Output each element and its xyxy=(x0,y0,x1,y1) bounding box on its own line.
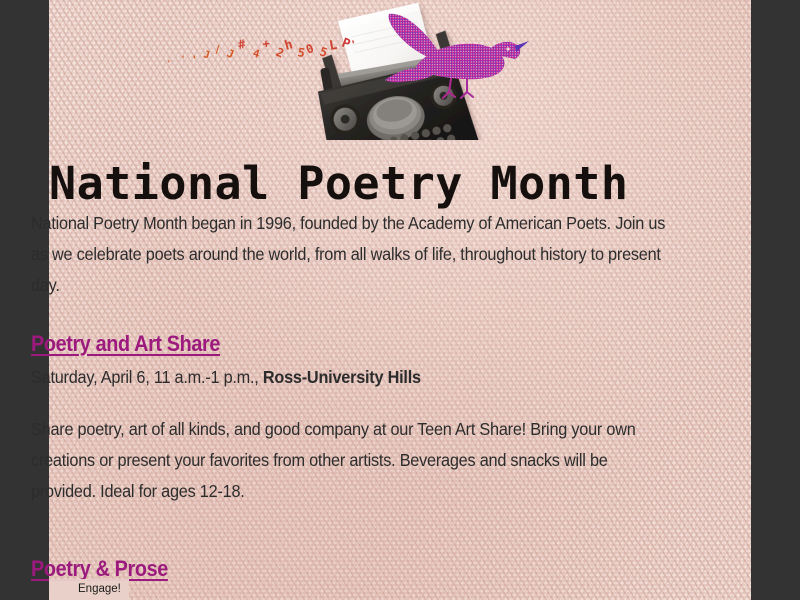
svg-text:,: , xyxy=(166,55,172,64)
svg-text:h: h xyxy=(283,37,295,54)
status-bar-link-preview: Engage! xyxy=(49,579,129,600)
svg-text:+: + xyxy=(262,36,271,51)
svg-text:J: J xyxy=(225,47,236,62)
svg-text:': ' xyxy=(180,54,186,64)
page-title: National Poetry Month xyxy=(49,160,689,207)
svg-text:/: / xyxy=(214,44,222,56)
hero-artwork: , ' , J / J # 4 + 2 h 5 0 5 L P ' xyxy=(49,0,751,140)
svg-text:0: 0 xyxy=(304,41,316,57)
event-link-poetry-and-art-share[interactable]: Poetry and Art Share xyxy=(31,331,220,357)
event-datetime: Saturday, April 6, 11 a.m.-1 p.m., xyxy=(31,367,263,387)
svg-text:L: L xyxy=(328,38,338,54)
svg-text:4: 4 xyxy=(251,46,262,61)
event-description: Share poetry, art of all kinds, and good… xyxy=(31,414,673,507)
svg-text:,: , xyxy=(190,50,199,61)
event-meta: Saturday, April 6, 11 a.m.-1 p.m., Ross-… xyxy=(31,363,673,391)
article-body: National Poetry Month began in 1996, fou… xyxy=(31,208,673,507)
event-location: Ross-University Hills xyxy=(263,367,421,387)
svg-text:#: # xyxy=(237,37,248,52)
svg-text:J: J xyxy=(202,49,211,61)
intro-paragraph: National Poetry Month began in 1996, fou… xyxy=(31,208,673,301)
page-root: , ' , J / J # 4 + 2 h 5 0 5 L P ' xyxy=(0,0,800,600)
